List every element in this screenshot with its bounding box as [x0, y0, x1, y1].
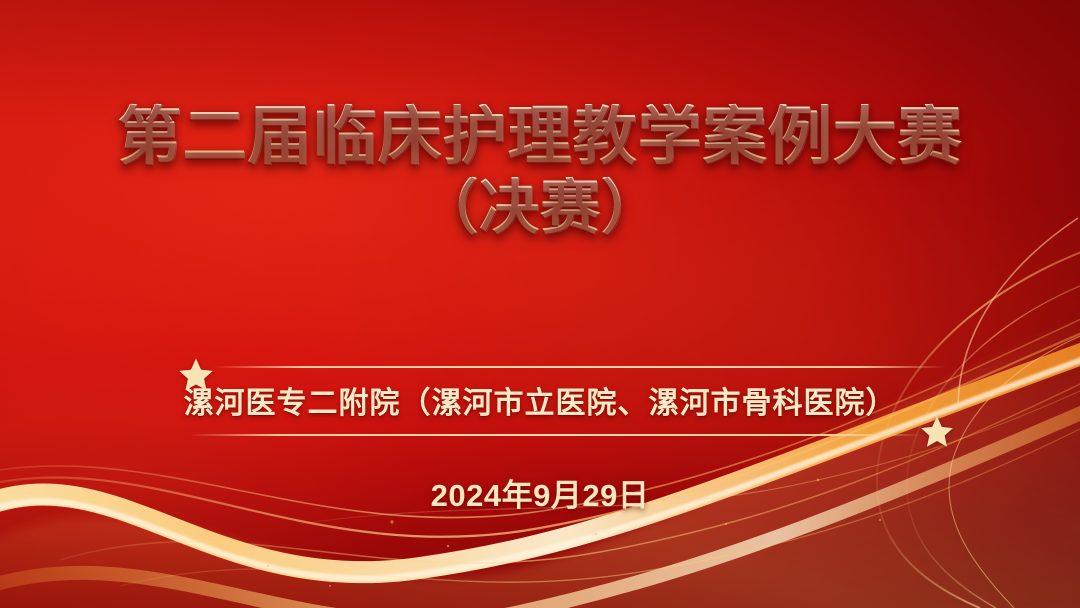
organization-band: 漯河医专二附院（漯河市立医院、漯河市骨科医院） — [0, 352, 1080, 458]
divider-bottom — [190, 434, 922, 436]
title-line-primary: 第二届临床护理教学案例大赛 — [0, 104, 1080, 169]
title-line-secondary: （决赛） — [0, 177, 1080, 238]
organization-name: 漯河医专二附院（漯河市立医院、漯河市骨科医院） — [0, 378, 1080, 422]
divider-top — [214, 366, 946, 368]
event-date: 2024年9月29日 — [0, 470, 1080, 515]
title-slide: 第二届临床护理教学案例大赛 （决赛） 漯河医专二附院（漯河市立医院、漯河市骨科医… — [0, 0, 1080, 608]
page-title: 第二届临床护理教学案例大赛 （决赛） — [0, 104, 1080, 238]
background-sheen — [0, 0, 1080, 608]
